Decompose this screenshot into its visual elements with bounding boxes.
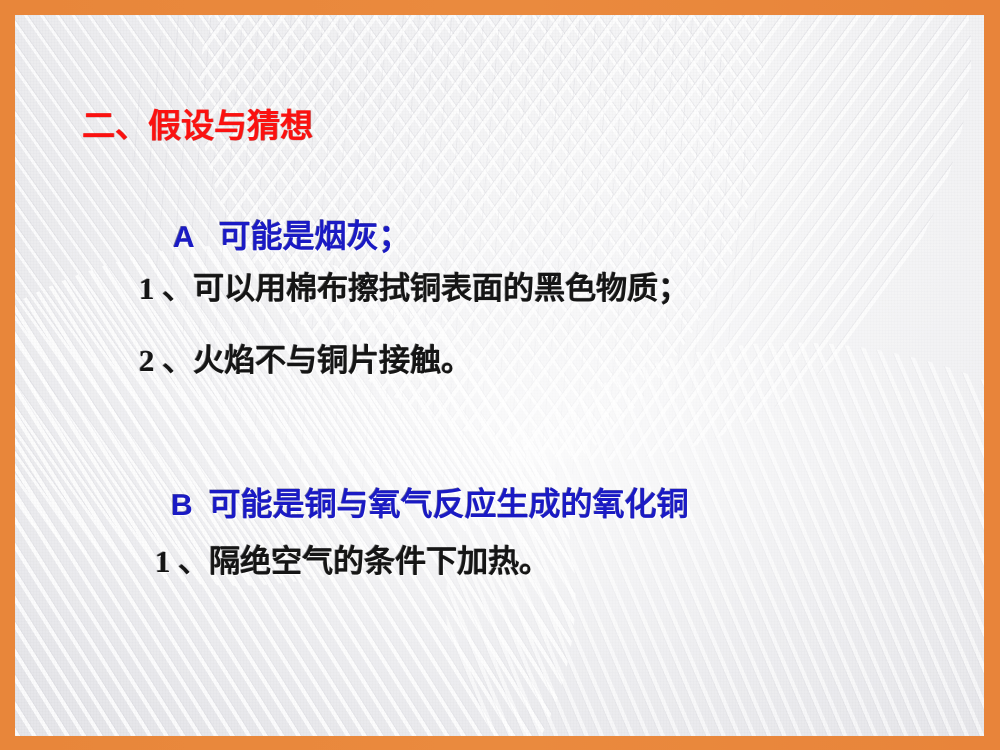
presentation-slide: 二、假设与猜想 A 可能是烟灰； 1 、可以用棉布擦拭铜表面的黑色物质； 2 、…: [0, 0, 1000, 750]
section-b-heading: B 可能是铜与氧气反应生成的氧化铜: [107, 456, 689, 553]
slide-text-content: 二、假设与猜想 A 可能是烟灰； 1 、可以用棉布擦拭铜表面的黑色物质； 2 、…: [15, 15, 984, 736]
slide-content-panel: 二、假设与猜想 A 可能是烟灰； 1 、可以用棉布擦拭铜表面的黑色物质； 2 、…: [15, 15, 984, 736]
section-a-point-2: 2 、火焰不与铜片接触。: [139, 345, 472, 376]
section-a-heading-text: 可能是烟灰；: [219, 218, 411, 254]
section-a-point-1: 1 、可以用棉布擦拭铜表面的黑色物质；: [139, 273, 689, 304]
section-a-label: A: [173, 221, 195, 254]
section-b-point-1: 1 、隔绝空气的条件下加热。: [155, 546, 550, 577]
section-b-label: B: [171, 489, 193, 522]
slide-title: 二、假设与猜想: [82, 111, 313, 144]
section-b-heading-text: 可能是铜与氧气反应生成的氧化铜: [209, 486, 689, 522]
